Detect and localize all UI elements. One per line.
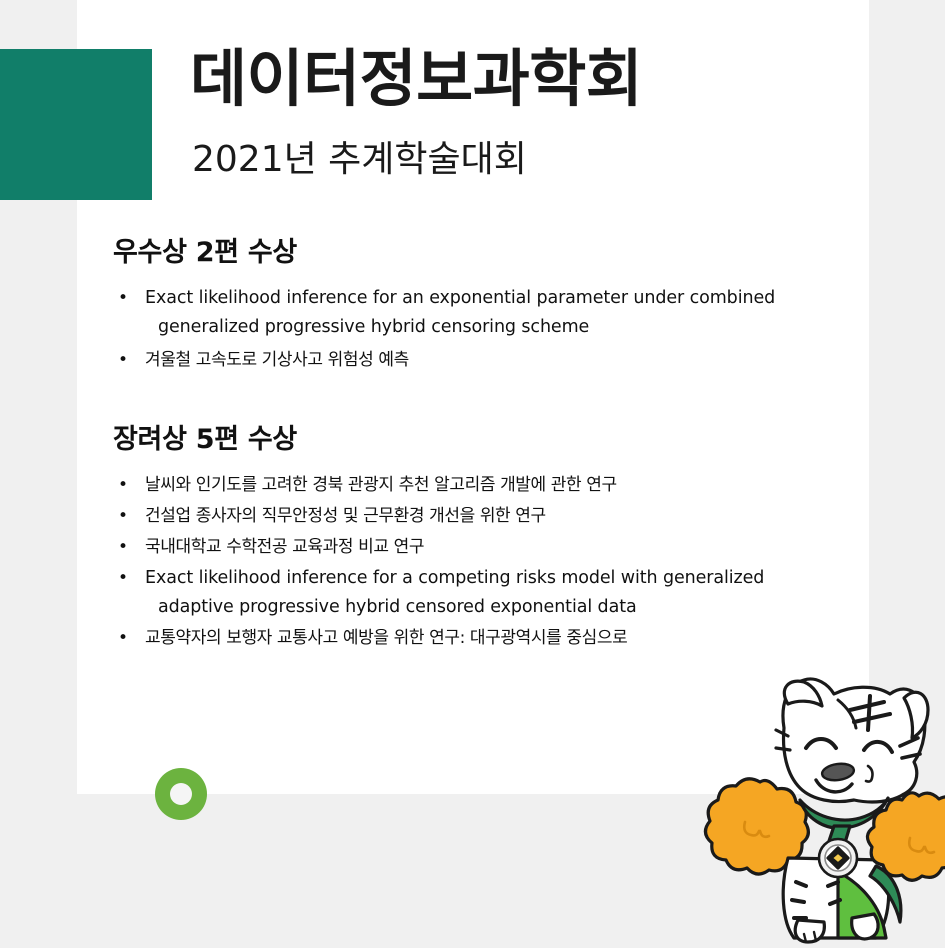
award-list-item: •Exact likelihood inference for a compet… (113, 564, 873, 622)
section-heading: 장려상 5편 수상 (113, 423, 873, 457)
bullet-dot-icon: • (118, 624, 128, 652)
award-title-line: Exact likelihood inference for a competi… (145, 564, 873, 593)
award-title-line: 날씨와 인기도를 고려한 경북 관광지 추천 알고리즘 개발에 관한 연구 (145, 471, 873, 500)
teal-accent-block (0, 49, 152, 200)
award-list: •날씨와 인기도를 고려한 경북 관광지 추천 알고리즘 개발에 관한 연구•건… (113, 471, 873, 653)
award-section-encouragement: 장려상 5편 수상 •날씨와 인기도를 고려한 경북 관광지 추천 알고리즘 개… (113, 423, 873, 655)
green-ring-icon (155, 768, 207, 820)
page-subtitle: 2021년 추계학술대회 (192, 142, 527, 178)
award-title-line: 국내대학교 수학전공 교육과정 비교 연구 (145, 533, 873, 562)
page-title: 데이터정보과학회 (190, 48, 642, 110)
bullet-dot-icon: • (118, 564, 128, 592)
award-title-line: generalized progressive hybrid censoring… (145, 313, 873, 342)
content-panel (77, 0, 869, 794)
award-list: •Exact likelihood inference for an expon… (113, 284, 873, 375)
award-title-line: 교통약자의 보행자 교통사고 예방을 위한 연구: 대구광역시를 중심으로 (145, 624, 873, 653)
award-list-item: •건설업 종사자의 직무안정성 및 근무환경 개선을 위한 연구 (113, 502, 873, 531)
award-title-line: Exact likelihood inference for an expone… (145, 284, 873, 313)
award-title-line: 건설업 종사자의 직무안정성 및 근무환경 개선을 위한 연구 (145, 502, 873, 531)
award-title-line: adaptive progressive hybrid censored exp… (145, 593, 873, 622)
award-list-item: •Exact likelihood inference for an expon… (113, 284, 873, 342)
bullet-dot-icon: • (118, 471, 128, 499)
award-list-item: •날씨와 인기도를 고려한 경북 관광지 추천 알고리즘 개발에 관한 연구 (113, 471, 873, 500)
award-title-line: 겨울철 고속도로 기상사고 위험성 예측 (145, 346, 873, 375)
bullet-dot-icon: • (118, 533, 128, 561)
presentation-slide: 데이터정보과학회 2021년 추계학술대회 우수상 2편 수상 •Exact l… (0, 0, 945, 945)
bullet-dot-icon: • (118, 284, 128, 312)
award-section-excellence: 우수상 2편 수상 •Exact likelihood inference fo… (113, 236, 873, 379)
award-list-item: •교통약자의 보행자 교통사고 예방을 위한 연구: 대구광역시를 중심으로 (113, 624, 873, 653)
award-list-item: •국내대학교 수학전공 교육과정 비교 연구 (113, 533, 873, 562)
bullet-dot-icon: • (118, 502, 128, 530)
award-list-item: •겨울철 고속도로 기상사고 위험성 예측 (113, 346, 873, 375)
bullet-dot-icon: • (118, 346, 128, 374)
section-heading: 우수상 2편 수상 (113, 236, 873, 270)
